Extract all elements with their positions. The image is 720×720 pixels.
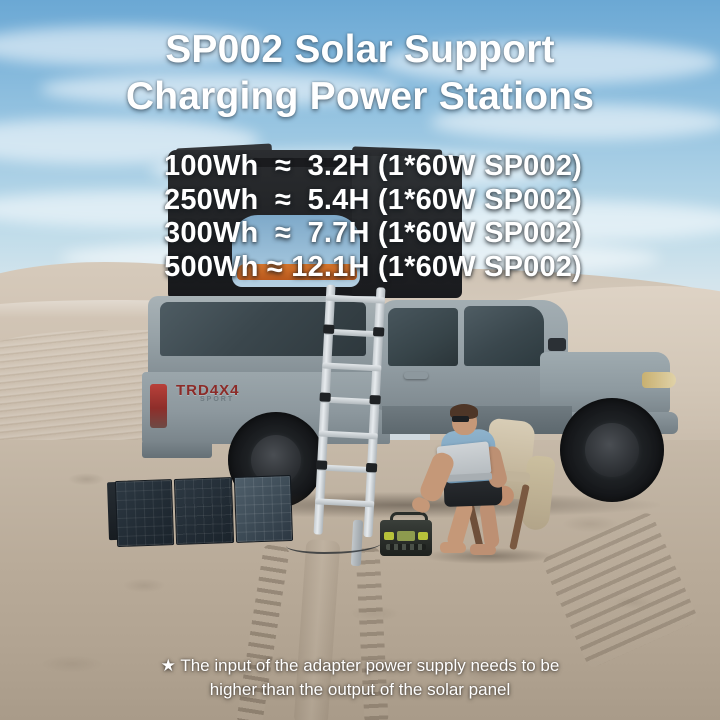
front-wheel [560, 398, 664, 502]
sunglasses [452, 416, 469, 422]
telescoping-ladder [312, 284, 391, 537]
foldable-solar-panel [115, 475, 293, 547]
rear-bumper [142, 440, 212, 458]
ladder-joint [323, 324, 334, 334]
solar-panel-segment [115, 479, 175, 547]
power-station-accent [384, 532, 394, 540]
charging-time-spec-list: 100Wh ≈ 3.2H (1*60W SP002) 250Wh ≈ 5.4H … [0, 150, 720, 284]
person-foot [440, 542, 466, 553]
ladder-joint [319, 392, 330, 402]
product-marketing-poster: TRD4X4 SPORT [0, 0, 720, 720]
wheel-rim [585, 423, 639, 477]
disclaimer-line-2: higher than the output of the solar pane… [0, 678, 720, 702]
disclaimer-line-1: ★ The input of the adapter power supply … [0, 654, 720, 678]
title-line-1: SP002 Solar Support [0, 26, 720, 73]
door-handle [404, 372, 428, 379]
solar-panel-segment [233, 475, 293, 543]
title-line-2: Charging Power Stations [0, 73, 720, 120]
trd-sub-badge: SPORT [200, 396, 234, 403]
ladder-joint [316, 460, 327, 470]
rear-door-window [388, 308, 458, 366]
spec-row: 500Wh ≈ 12.1H (1*60W SP002) [0, 251, 582, 285]
spec-row: 300Wh ≈ 7.7H (1*60W SP002) [0, 217, 582, 251]
spec-row: 100Wh ≈ 3.2H (1*60W SP002) [0, 150, 582, 184]
power-station-accent [418, 532, 428, 540]
power-station-ports [386, 544, 426, 550]
power-station-display [397, 531, 415, 541]
ladder-joint [373, 327, 384, 337]
poster-title: SP002 Solar Support Charging Power Stati… [0, 26, 720, 120]
disclaimer-note: ★ The input of the adapter power supply … [0, 654, 720, 702]
front-door-window [464, 306, 544, 366]
spec-row: 250Wh ≈ 5.4H (1*60W SP002) [0, 184, 582, 218]
ladder-joint [369, 395, 380, 405]
person-foot [470, 544, 496, 555]
ladder-joint [366, 463, 377, 473]
side-mirror [548, 338, 566, 351]
taillight [150, 384, 167, 428]
solar-panel-segment [174, 477, 234, 545]
headlight [642, 372, 676, 388]
